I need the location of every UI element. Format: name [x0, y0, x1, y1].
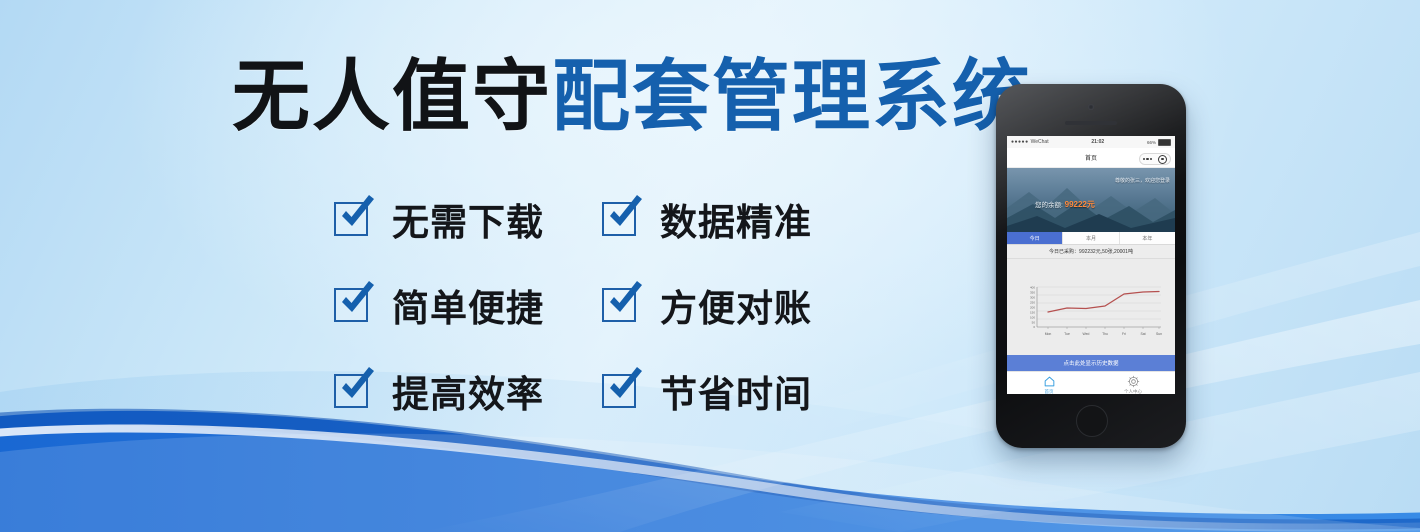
- signal-dots-icon: ●●●●●: [1011, 139, 1029, 145]
- wechat-capsule-menu[interactable]: [1139, 153, 1171, 165]
- svg-text:50: 50: [1032, 321, 1036, 325]
- feature-label: 无需下载: [392, 192, 544, 246]
- feature-item: 无需下载: [334, 192, 602, 246]
- svg-text:Mon: Mon: [1045, 332, 1052, 336]
- purchase-summary-text: 今日已采购：992232元,50张,20001吨: [1007, 245, 1175, 259]
- capsule-target-icon[interactable]: [1158, 155, 1167, 164]
- feature-item: 方便对账: [602, 278, 870, 332]
- status-time: 21:02: [1049, 139, 1147, 145]
- gear-icon: [1127, 375, 1140, 388]
- feature-item: 数据精准: [602, 192, 870, 246]
- feature-label: 简单便捷: [392, 278, 544, 332]
- more-dots-icon[interactable]: [1143, 158, 1153, 161]
- tab-year[interactable]: 本年: [1120, 232, 1175, 244]
- checkbox-checked-icon: [334, 199, 374, 239]
- line-chart: 400 350 300 250 200 150 100 50 0: [1015, 281, 1167, 341]
- svg-text:0: 0: [1033, 325, 1035, 329]
- svg-text:Sun: Sun: [1156, 332, 1162, 336]
- headline-blue-text: 配套管理系统: [552, 52, 1032, 140]
- svg-text:Sat: Sat: [1140, 332, 1145, 336]
- svg-text:300: 300: [1030, 296, 1035, 300]
- checkbox-checked-icon: [334, 371, 374, 411]
- hero-balance-value: 99222元: [1065, 200, 1095, 209]
- headline-dark-text: 无人值守: [232, 52, 552, 140]
- checkbox-checked-icon: [602, 199, 642, 239]
- nav-title: 首页: [1085, 153, 1097, 162]
- earpiece-speaker: [1065, 121, 1117, 125]
- tabbar-item-home[interactable]: 首页: [1007, 372, 1091, 394]
- tabbar-item-profile[interactable]: 个人中心: [1091, 372, 1175, 394]
- carrier-label: WeChat: [1031, 139, 1049, 145]
- feature-list: 无需下载 数据精准 简单便捷 方便对账: [334, 176, 870, 434]
- svg-text:100: 100: [1030, 316, 1035, 320]
- svg-text:Fri: Fri: [1122, 332, 1126, 336]
- phone-screen: ●●●●● WeChat 21:02 66% 首页 尊敬的张: [1007, 136, 1175, 394]
- feature-item: 提高效率: [334, 364, 602, 418]
- feature-label: 方便对账: [660, 278, 812, 332]
- svg-text:400: 400: [1030, 286, 1035, 290]
- tabbar-label-home: 首页: [1045, 389, 1054, 394]
- tab-today[interactable]: 今日: [1007, 232, 1063, 244]
- chart-area: 400 350 300 250 200 150 100 50 0: [1007, 259, 1175, 355]
- home-icon: [1043, 375, 1056, 388]
- promo-banner: 无人值守配套管理系统 无需下载 数据精准 简单便捷: [0, 0, 1420, 532]
- home-button[interactable]: [1076, 405, 1108, 437]
- feature-label: 节省时间: [660, 364, 812, 418]
- hero-balance: 您的余额: 99222元: [1035, 199, 1095, 210]
- battery-percent: 66%: [1147, 140, 1156, 145]
- svg-text:Tue: Tue: [1064, 332, 1070, 336]
- feature-item: 简单便捷: [334, 278, 602, 332]
- feature-label: 数据精准: [660, 192, 812, 246]
- history-data-button[interactable]: 点击此处显示历史数据: [1007, 355, 1175, 371]
- checkbox-checked-icon: [602, 371, 642, 411]
- svg-text:250: 250: [1030, 301, 1035, 305]
- svg-text:Thu: Thu: [1102, 332, 1108, 336]
- svg-text:350: 350: [1030, 291, 1035, 295]
- hero-welcome-text: 尊敬的张三，欢迎您登录: [1115, 177, 1170, 184]
- feature-label: 提高效率: [392, 364, 544, 418]
- tab-month[interactable]: 本月: [1063, 232, 1119, 244]
- tabbar-label-profile: 个人中心: [1124, 389, 1142, 394]
- bottom-tab-bar: 首页: [1007, 371, 1175, 394]
- hero-banner: 尊敬的张三，欢迎您登录 您的余额: 99222元: [1007, 168, 1175, 232]
- phone-mockup: ●●●●● WeChat 21:02 66% 首页 尊敬的张: [996, 84, 1186, 448]
- hero-balance-label: 您的余额:: [1035, 202, 1063, 209]
- battery-icon: [1158, 139, 1171, 146]
- svg-text:150: 150: [1030, 311, 1035, 315]
- feature-item: 节省时间: [602, 364, 870, 418]
- checkbox-checked-icon: [334, 285, 374, 325]
- svg-text:Wed: Wed: [1083, 332, 1090, 336]
- status-bar: ●●●●● WeChat 21:02 66%: [1007, 136, 1175, 148]
- nav-bar: 首页: [1007, 148, 1175, 168]
- svg-text:200: 200: [1030, 306, 1035, 310]
- checkbox-checked-icon: [602, 285, 642, 325]
- segment-tabs: 今日 本月 本年: [1007, 232, 1175, 245]
- front-camera-icon: [1088, 104, 1094, 110]
- page-title: 无人值守配套管理系统: [232, 48, 952, 144]
